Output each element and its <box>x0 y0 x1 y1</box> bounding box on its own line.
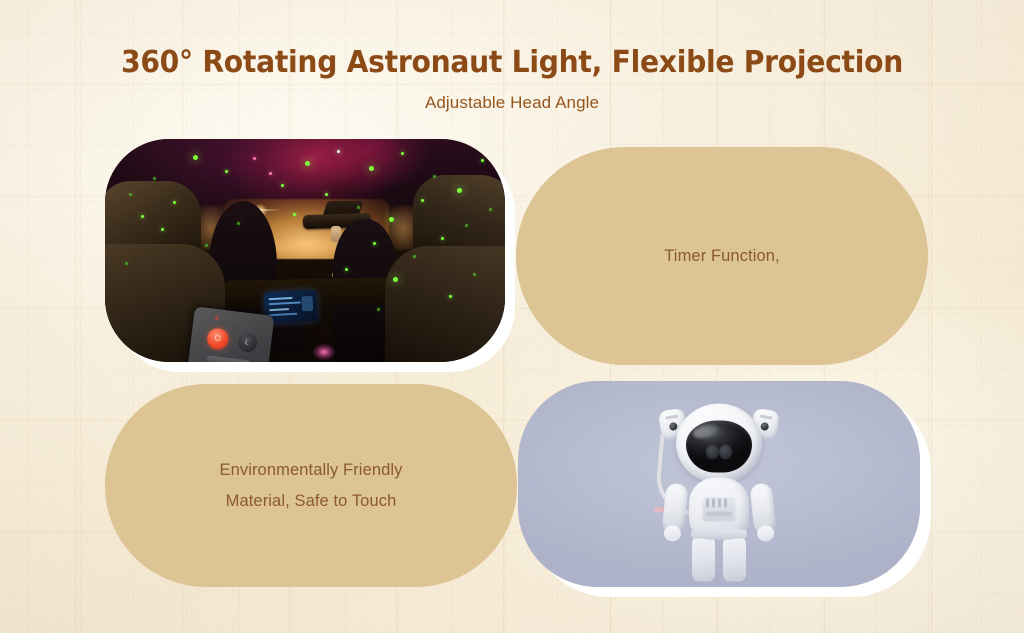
poster-page: 360° Rotating Astronaut Light, Flexible … <box>0 0 1024 633</box>
visor-glint <box>692 423 720 441</box>
projector-lens-left <box>706 444 719 459</box>
headrest-right <box>413 175 505 255</box>
seatback-right <box>385 246 505 362</box>
remote-button-row <box>206 355 252 362</box>
astronaut-ear-slit-left <box>665 415 678 420</box>
astronaut-ear-dot-right <box>760 421 769 430</box>
feature-card-grid: ⏻ ☾ Timer Function, Environmentally Frie… <box>105 139 935 587</box>
astronaut-leg-left <box>692 534 715 582</box>
eco-material-line-2: Material, Safe to Touch <box>219 486 402 517</box>
card-timer-function: Timer Function, <box>516 147 928 365</box>
car-interior-illustration: ⏻ ☾ <box>105 139 505 362</box>
astronaut-hand-left <box>663 525 682 543</box>
page-subtitle: Adjustable Head Angle <box>0 93 1024 113</box>
astronaut-visor <box>686 421 752 473</box>
poster-header: 360° Rotating Astronaut Light, Flexible … <box>0 0 1024 113</box>
floor-light-glow <box>313 344 335 360</box>
page-title: 360° Rotating Astronaut Light, Flexible … <box>31 46 994 79</box>
astronaut-belt <box>691 530 747 539</box>
astronaut-lamp <box>663 404 775 579</box>
astronaut-hand-right <box>756 525 775 543</box>
eco-material-label: Environmentally Friendly Material, Safe … <box>189 455 432 516</box>
astronaut-arm-right <box>749 482 776 534</box>
astronaut-arm-left <box>661 482 688 534</box>
remote-power-button: ⏻ <box>206 327 229 350</box>
astronaut-legs <box>692 534 746 582</box>
astronaut-product-illustration <box>518 381 920 587</box>
projector-lens-right <box>719 444 732 459</box>
eco-material-line-1: Environmentally Friendly <box>219 455 402 486</box>
astronaut-leg-right <box>723 534 746 582</box>
card-astronaut-product-photo <box>518 381 920 587</box>
astronaut-ear-slit-right <box>760 415 773 420</box>
remote-control: ⏻ ☾ <box>187 306 274 362</box>
remote-moon-button: ☾ <box>237 332 258 353</box>
timer-function-label: Timer Function, <box>634 241 810 272</box>
astronaut-ear-dot-left <box>669 421 678 430</box>
card-eco-material: Environmentally Friendly Material, Safe … <box>105 384 517 587</box>
remote-led-indicator <box>214 316 218 320</box>
card-car-projection-photo: ⏻ ☾ <box>105 139 505 362</box>
astronaut-chest-panel <box>702 496 736 522</box>
